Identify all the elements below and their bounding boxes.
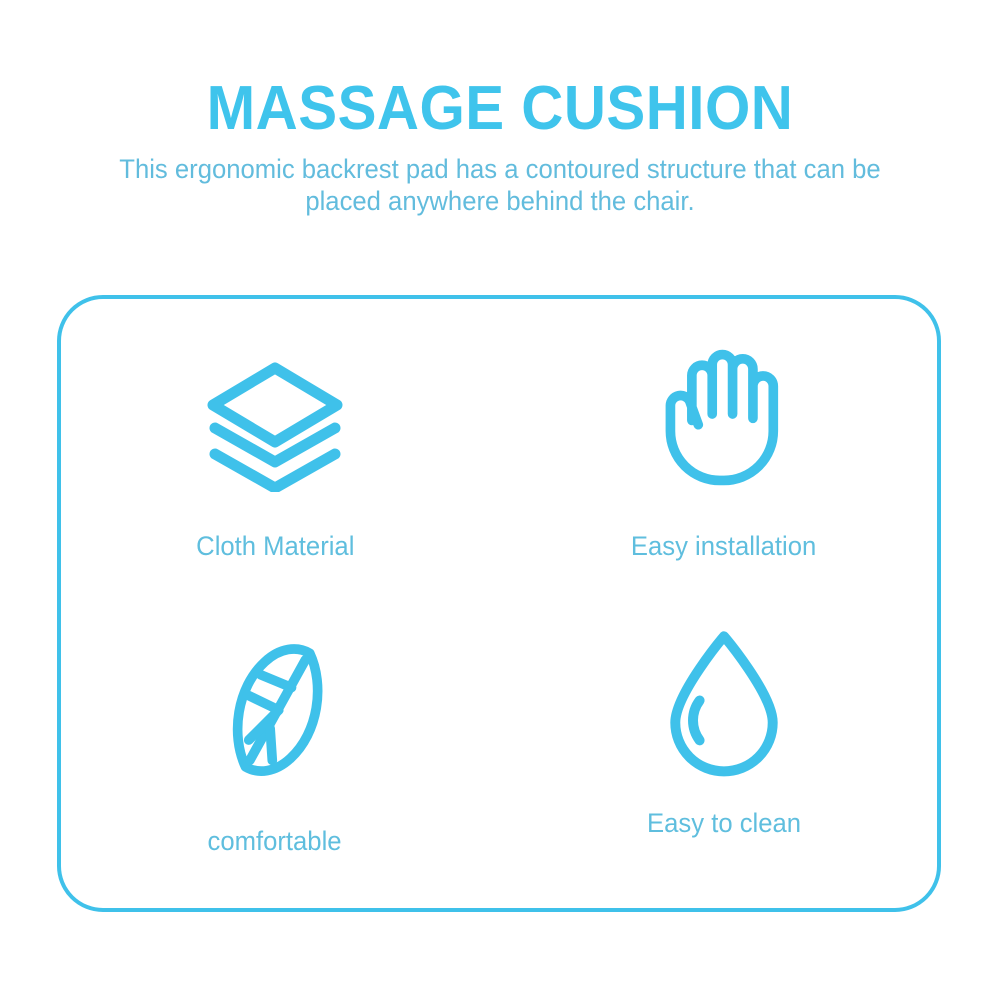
feature-label-easy-to-clean: Easy to clean: [647, 808, 801, 839]
feature-label-easy-installation: Easy installation: [631, 531, 816, 562]
feature-label-cloth-material: Cloth Material: [196, 531, 354, 562]
header: MASSAGE CUSHION This ergonomic backrest …: [0, 78, 1000, 218]
feature-label-comfortable: comfortable: [208, 826, 342, 857]
water-drop-icon: [649, 626, 799, 776]
feature-item-easy-to-clean: Easy to clean: [499, 604, 937, 909]
page-title: MASSAGE CUSHION: [30, 78, 970, 140]
feature-card: Cloth Material Easy installation: [57, 295, 941, 912]
feature-item-cloth-material: Cloth Material: [61, 299, 499, 604]
page-subtitle: This ergonomic backrest pad has a contou…: [25, 154, 975, 218]
feature-item-easy-installation: Easy installation: [499, 299, 937, 604]
open-hand-icon: [649, 339, 799, 489]
feature-item-comfortable: comfortable: [61, 604, 499, 909]
leaf-icon: [200, 634, 350, 784]
page-subtitle-line-1: This ergonomic backrest pad has a contou…: [25, 154, 975, 186]
page-subtitle-line-2: placed anywhere behind the chair.: [25, 186, 975, 218]
layers-icon: [200, 347, 350, 497]
product-feature-infographic: MASSAGE CUSHION This ergonomic backrest …: [0, 0, 1000, 1000]
feature-grid: Cloth Material Easy installation: [61, 299, 937, 908]
